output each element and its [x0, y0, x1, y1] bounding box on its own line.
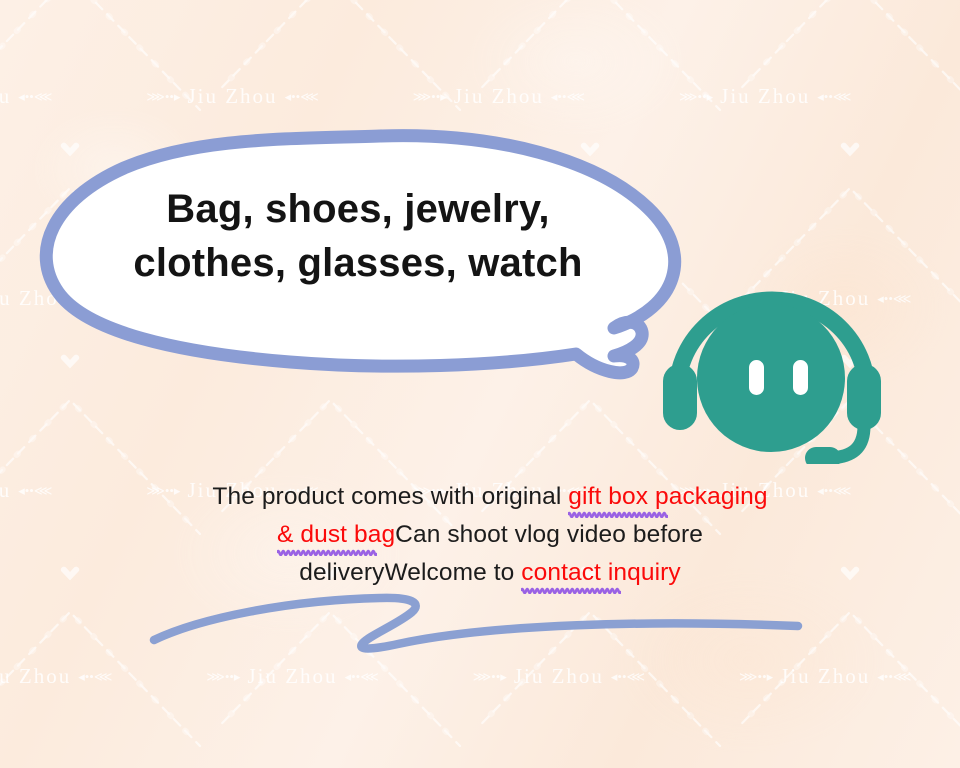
hand-drawn-underline-swoosh	[130, 578, 830, 668]
caption-highlight-gift-box: gift box packaging	[568, 483, 767, 510]
wavy-underline-icon	[277, 548, 377, 556]
caption-highlight-dust-bag-text: & dust bag	[277, 521, 395, 548]
speech-bubble-line-2: clothes, glasses, watch	[98, 236, 618, 290]
caption-highlight-gift-box-text: gift box packaging	[568, 483, 767, 510]
caption-highlight-dust-bag: & dust bag	[277, 521, 395, 548]
speech-bubble-line-1: Bag, shoes, jewelry,	[98, 182, 618, 236]
speech-bubble-text: Bag, shoes, jewelry, clothes, glasses, w…	[98, 182, 618, 291]
customer-service-headset-avatar	[655, 268, 890, 464]
wavy-underline-icon	[568, 510, 668, 518]
right-eye	[793, 360, 808, 395]
poster-canvas: ⋙••▸ Jiu Zhou ◂••⋘ ⋙••▸ Jiu Zhou ◂••⋘ ⋙•…	[0, 0, 960, 768]
headset-face-icon	[655, 268, 890, 464]
product-caption: The product comes with original gift box…	[140, 478, 840, 592]
speech-bubble: Bag, shoes, jewelry, clothes, glasses, w…	[28, 122, 708, 387]
left-eye	[749, 360, 764, 395]
swoosh-icon	[130, 578, 830, 668]
caption-line1-plain: The product comes with original	[212, 483, 568, 510]
caption-line2-plain: Can shoot vlog video before	[395, 521, 703, 548]
